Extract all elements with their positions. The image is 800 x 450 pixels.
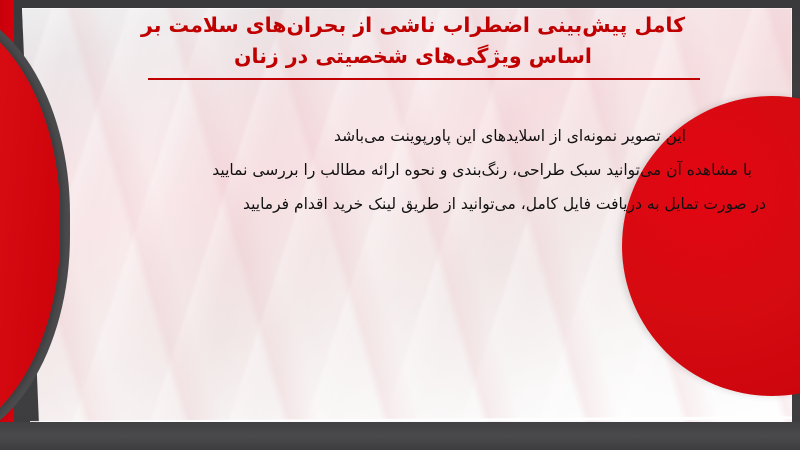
slide-text-content: کامل پیش‌بینی اضطراب ناشی از بحران‌های س… [60,0,766,450]
slide-title-line-1: کامل پیش‌بینی اضطراب ناشی از بحران‌های س… [60,10,766,41]
slide-title-line-2: اساس ویژگی‌های شخصیتی در زنان [60,41,766,72]
slide-body-line-1: این تصویر نمونه‌ای از اسلایدهای این پاور… [66,120,766,154]
presentation-slide: کامل پیش‌بینی اضطراب ناشی از بحران‌های س… [0,0,800,450]
title-underline-rule [148,78,700,80]
slide-body: این تصویر نمونه‌ای از اسلایدهای این پاور… [66,120,766,221]
slide-body-line-2: با مشاهده آن می‌توانید سبک طراحی، رنگ‌بن… [66,154,766,188]
slide-title: کامل پیش‌بینی اضطراب ناشی از بحران‌های س… [60,10,766,72]
slide-body-line-3: در صورت تمایل به دریافت فایل کامل، می‌تو… [66,188,766,222]
